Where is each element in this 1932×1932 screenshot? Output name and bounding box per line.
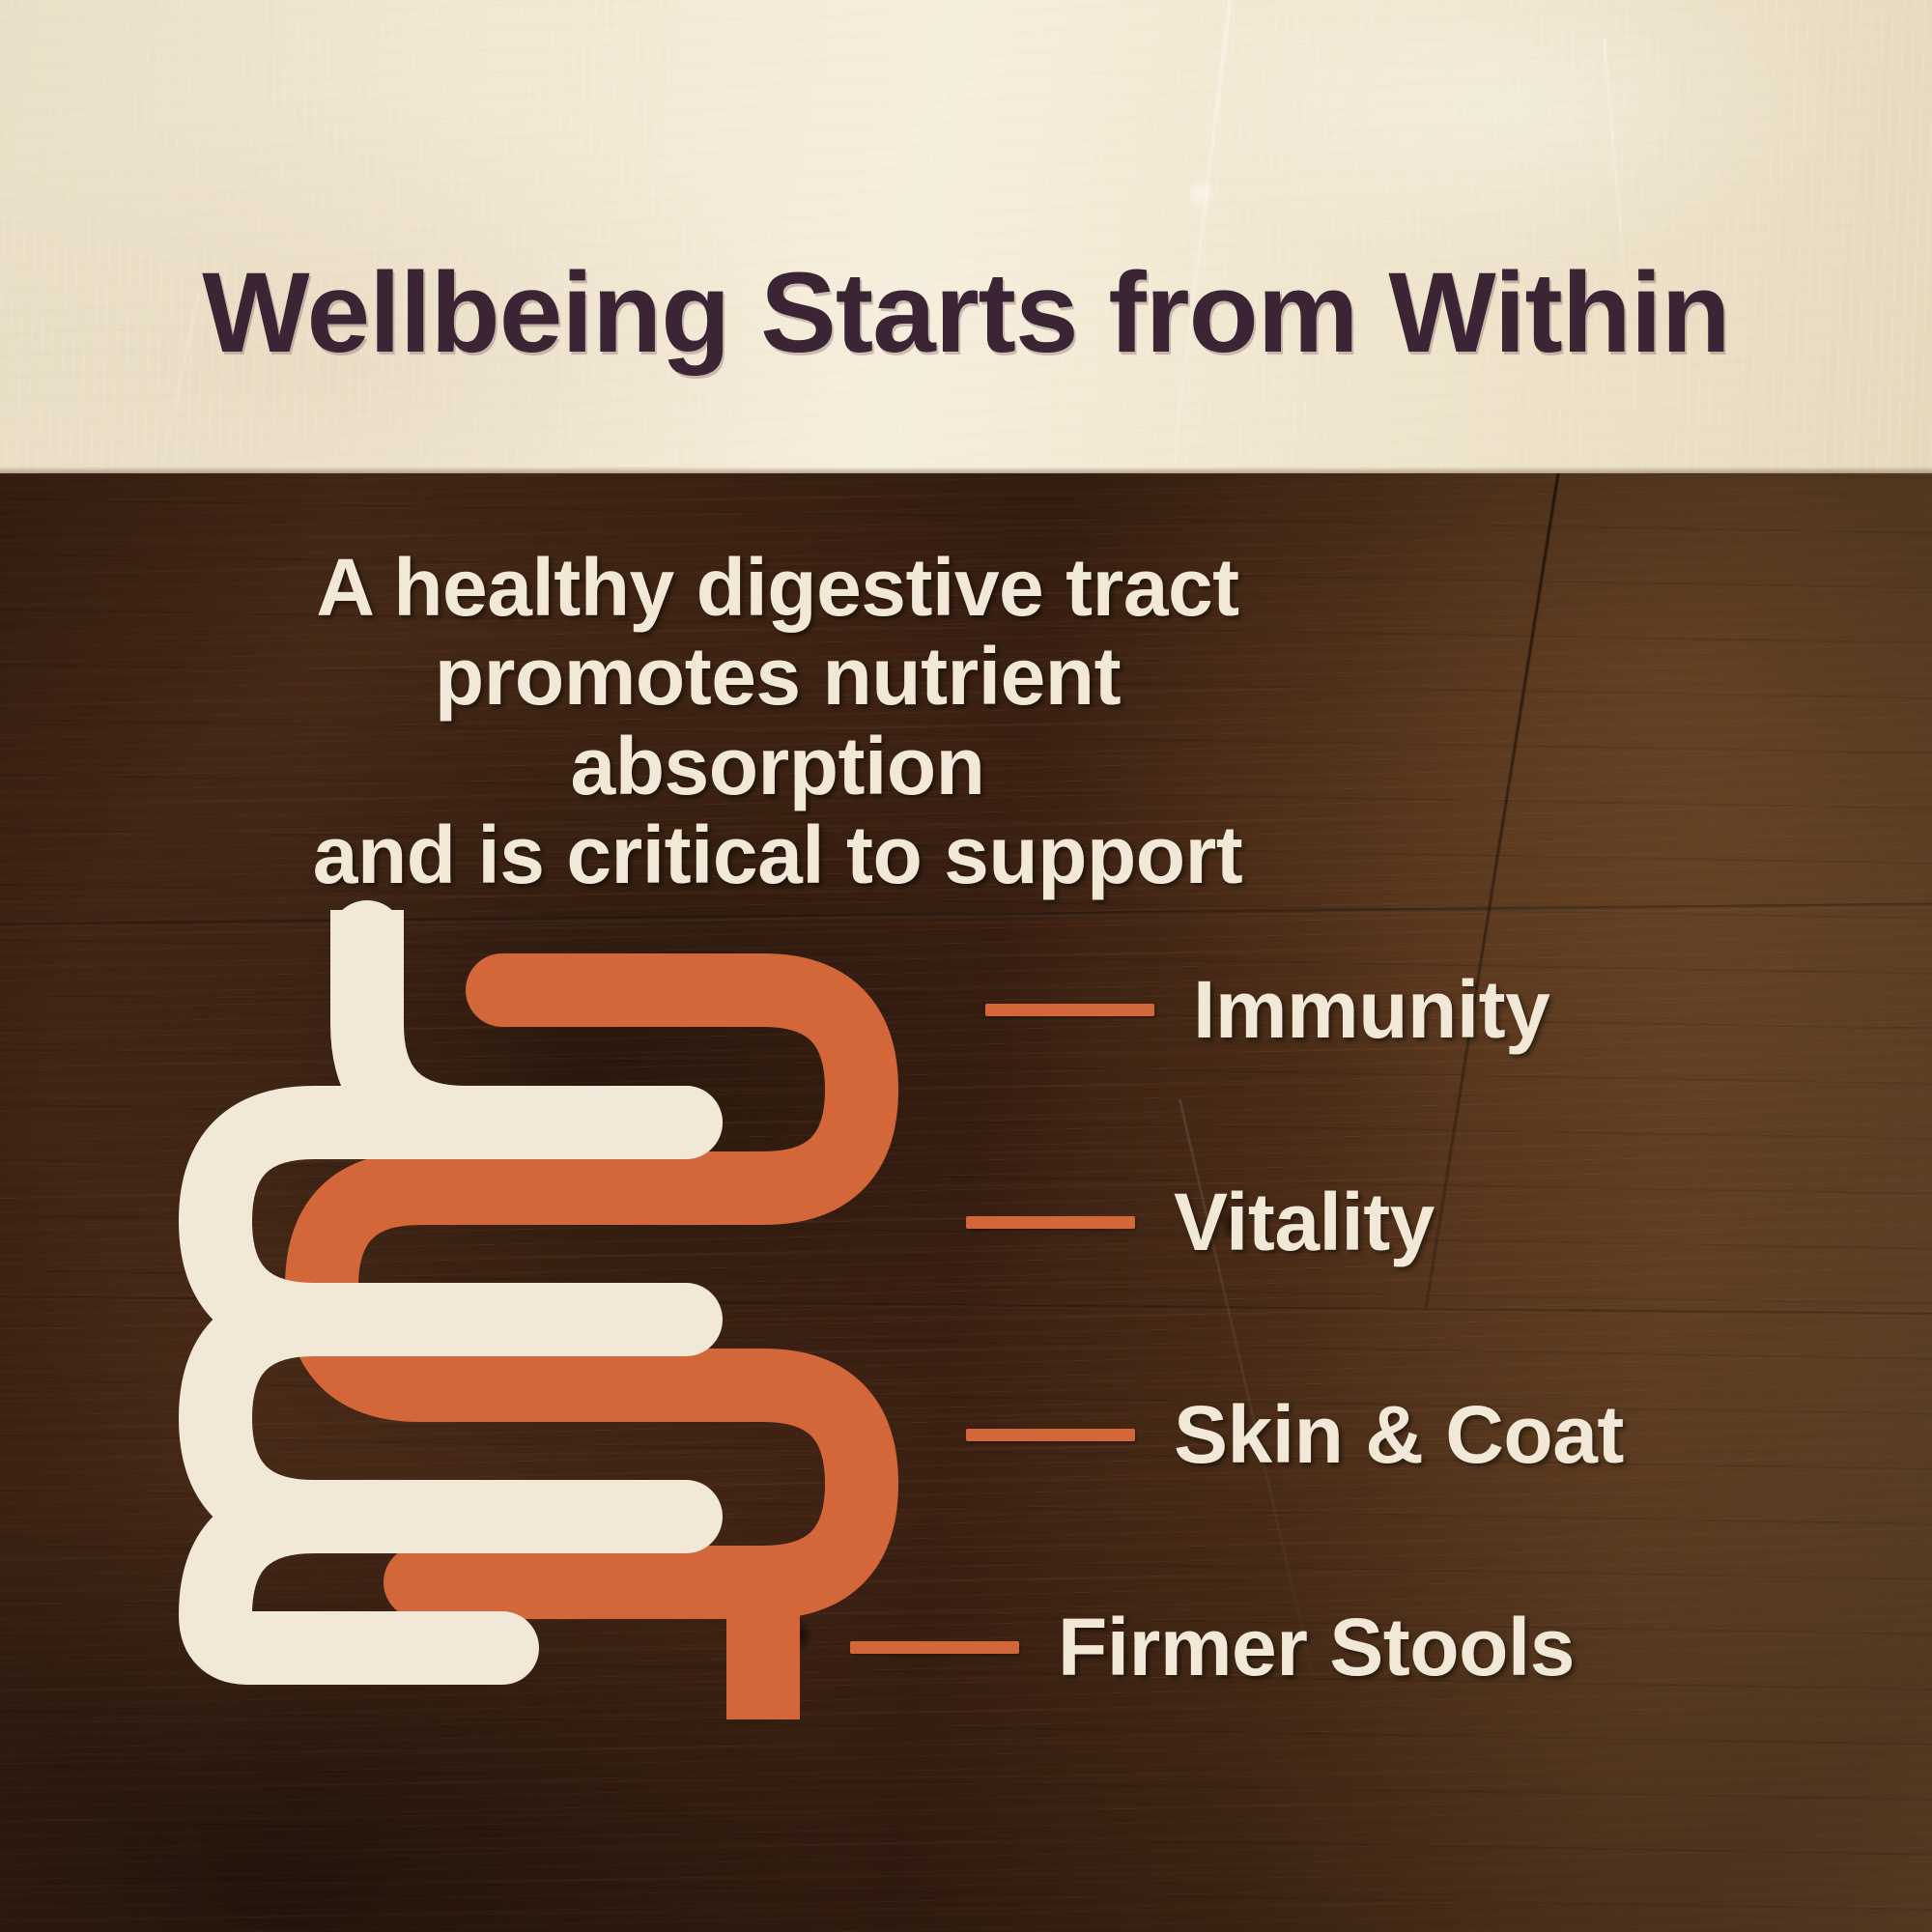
callout-row-immunity[interactable]: Immunity xyxy=(985,956,1549,1063)
header-banner xyxy=(0,0,1932,473)
callout-label: Vitality xyxy=(1174,1181,1435,1263)
infographic-canvas: Wellbeing Starts from Within A healthy d… xyxy=(0,0,1932,1932)
callout-row-vitality[interactable]: Vitality xyxy=(966,1169,1435,1275)
connector-dash-icon xyxy=(966,1216,1135,1229)
intro-line-2: promotes nutrient absorption xyxy=(246,632,1309,810)
paper-grain-texture xyxy=(0,0,1932,473)
intro-paragraph: A healthy digestive tract promotes nutri… xyxy=(246,543,1309,900)
banner-bottom-shadow xyxy=(0,467,1932,473)
intro-line-1: A healthy digestive tract xyxy=(246,543,1309,632)
connector-dash-icon xyxy=(985,1004,1154,1016)
callout-row-skin-and-coat[interactable]: Skin & Coat xyxy=(966,1381,1624,1488)
page-title: Wellbeing Starts from Within xyxy=(0,256,1932,370)
small-intestine-path xyxy=(215,937,686,1648)
callout-label: Firmer Stools xyxy=(1058,1606,1575,1688)
banner-blemish xyxy=(1188,174,1213,214)
callout-label: Immunity xyxy=(1193,969,1549,1050)
callout-label: Skin & Coat xyxy=(1174,1394,1624,1475)
callout-row-firmer-stools[interactable]: Firmer Stools xyxy=(850,1594,1575,1700)
connector-dash-icon xyxy=(966,1429,1135,1441)
connector-dash-icon xyxy=(850,1641,1019,1654)
